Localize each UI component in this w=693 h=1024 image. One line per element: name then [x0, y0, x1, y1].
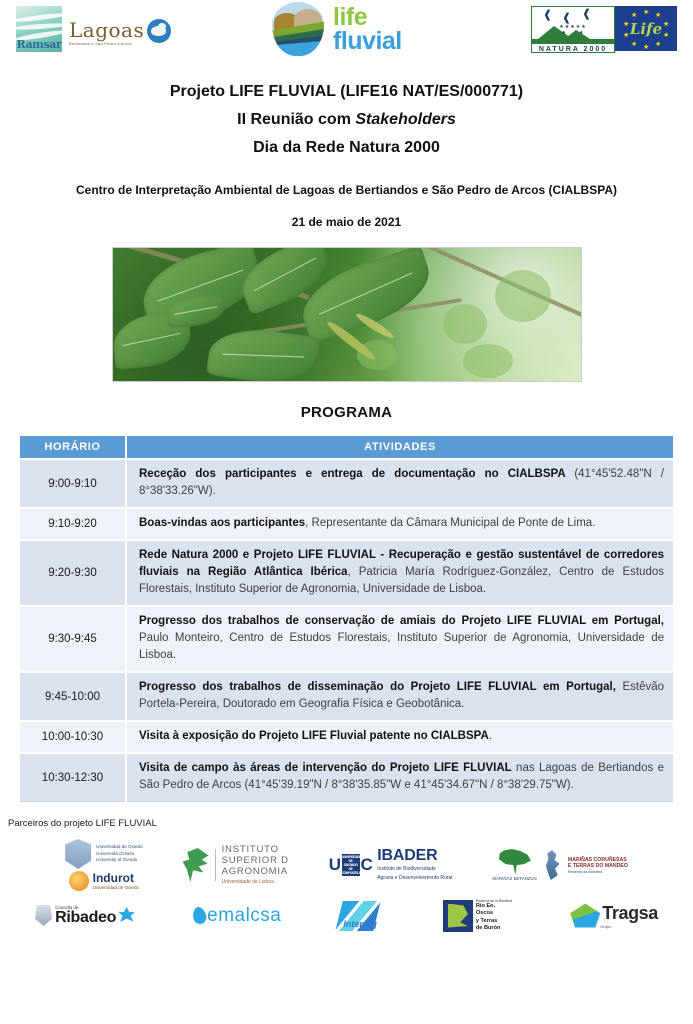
ibader-subtitle-2: Agraria e Desenvolvemento Rural: [377, 875, 452, 883]
row-activity: Receção dos participantes e entrega de d…: [126, 459, 673, 508]
row-activity-bold: Progresso dos trabalhos de disseminação …: [139, 681, 616, 693]
isa-line-4: Universidade de Lisboa: [222, 880, 289, 886]
eu-star-9: ★: [643, 44, 649, 51]
column-header-horario: HORÁRIO: [20, 436, 126, 459]
usc-letter-c: C: [361, 855, 373, 875]
reserva-emblem-icon: [443, 900, 473, 932]
eu-star-10: ★: [655, 41, 661, 48]
hero-photo-alder-leaves: [112, 247, 582, 382]
row-time: 9:00-9:10: [20, 459, 126, 508]
indurot-wordmark: Indurot: [93, 872, 139, 884]
column-header-atividades: ATIVIDADES: [126, 436, 673, 459]
row-activity-bold: Visita de campo às áreas de intervenção …: [139, 762, 512, 774]
ibader-wordmark: IBADER: [377, 848, 452, 864]
oviedo-name-es: Universidad de Oviedo: [96, 844, 142, 851]
table-row: 9:20-9:30 Rede Natura 2000 e Projeto LIF…: [20, 540, 673, 606]
oviedo-name-ast: Universidá d'Uviéu: [96, 851, 142, 858]
header-logo-bar: Ramsar Lagoas Bertiandos e Sao Pedro d'A…: [0, 0, 693, 58]
programa-heading: PROGRAMA: [0, 404, 693, 421]
photo-leaf-5: [205, 323, 319, 382]
emalcsa-water-drop-icon: [191, 906, 207, 925]
row-activity-bold: Visita à exposição do Projeto LIFE Fluvi…: [139, 730, 489, 742]
row-activity: Boas-vindas aos participantes, Represent…: [126, 508, 673, 540]
title-line-1: Projeto LIFE FLUVIAL (LIFE16 NAT/ES/0007…: [0, 78, 693, 106]
tragsa-wordmark: Tragsa: [602, 903, 658, 924]
reserva-line-1: Río Eo,: [476, 903, 512, 910]
usc-seal-icon: UNIVERSIDADE DE SANTIAGO DE COMPOSTELA: [342, 854, 360, 876]
usc-seal-text: UNIVERSIDADE DE SANTIAGO DE COMPOSTELA: [342, 855, 360, 875]
partner-logo-row-2: Concello de Ribadeo emalcsa Interreg Res…: [0, 899, 693, 932]
reserva-line-4: de Burón: [476, 925, 512, 932]
table-row: 9:10-9:20 Boas-vindas aos participantes,…: [20, 508, 673, 540]
oviedo-crest-icon: [65, 839, 91, 869]
row-activity: Rede Natura 2000 e Projeto LIFE FLUVIAL …: [126, 540, 673, 606]
row-activity: Visita de campo às áreas de intervenção …: [126, 753, 673, 802]
hero-image-wrap: [0, 247, 693, 382]
table-row: 10:00-10:30 Visita à exposição do Projet…: [20, 721, 673, 753]
natura-2000-logo: ❰ ❰ ❰ ★★★★★★ ★ NATURA 2000: [531, 6, 615, 53]
row-activity-rest: Paulo Monteiro, Centro de Estudos Flores…: [139, 632, 664, 661]
ramsar-lagoas-logo-group: Ramsar Lagoas Bertiandos e Sao Pedro d'A…: [16, 6, 171, 52]
ramsar-wave-1: [16, 12, 62, 24]
eu-life-wordmark: Life: [615, 20, 677, 38]
title-line-2: II Reunião com Stakeholders: [0, 106, 693, 134]
ribadeo-swirl-icon: [118, 907, 135, 924]
interreg-wordmark: Interreg: [343, 919, 377, 929]
natura-stars-icon: ★★★★★★ ★: [550, 24, 596, 42]
eu-star-1: ★: [643, 9, 649, 16]
ibader-subtitle-1: Instituto de Biodiversidade: [377, 866, 452, 874]
emalcsa-logo: emalcsa: [193, 905, 281, 927]
date-line: 21 de maio de 2021: [0, 215, 693, 229]
program-table: HORÁRIO ATIVIDADES 9:00-9:10 Receção dos…: [20, 436, 673, 802]
title-line-2-italic: Stakeholders: [355, 111, 455, 128]
lagoas-logo: Lagoas Bertiandos e Sao Pedro d'Arcos: [69, 19, 171, 52]
program-table-body: 9:00-9:10 Receção dos participantes e en…: [20, 459, 673, 802]
isa-line-2: SUPERIOR D: [222, 856, 289, 867]
row-activity: Progresso dos trabalhos de disseminação …: [126, 672, 673, 721]
table-row: 9:00-9:10 Receção dos participantes e en…: [20, 459, 673, 508]
row-activity: Progresso dos trabalhos de conservação d…: [126, 606, 673, 672]
indurot-subtitle: Universidad de Oviedo: [93, 885, 139, 890]
isa-eagle-icon: [183, 848, 209, 882]
marinas-right-line-3: Reserva da Biosfera: [568, 870, 628, 874]
eu-star-3: ★: [655, 12, 661, 19]
table-header-row: HORÁRIO ATIVIDADES: [20, 436, 673, 459]
table-row: 9:30-9:45 Progresso dos trabalhos de con…: [20, 606, 673, 672]
row-time: 9:30-9:45: [20, 606, 126, 672]
row-activity-bold: Receção dos participantes e entrega de d…: [139, 468, 574, 480]
eu-star-8: ★: [631, 41, 637, 48]
ribadeo-shield-icon: [35, 905, 52, 926]
partners-label: Parceiros do projeto LIFE FLUVIAL: [8, 818, 693, 829]
natura-label: NATURA 2000: [532, 46, 614, 53]
natura-eu-logo-group: ❰ ❰ ❰ ★★★★★★ ★ NATURA 2000 ★ ★ ★ ★ ★ ★ ★…: [531, 6, 677, 53]
row-time: 9:20-9:30: [20, 540, 126, 606]
isa-line-3: AGRONOMIA: [222, 867, 289, 878]
marinas-right-line-1: MARIÑAS CORUÑESAS: [568, 857, 628, 863]
ramsar-wordmark: Ramsar: [16, 38, 62, 51]
life-fluvial-mark-icon: [272, 2, 324, 56]
tragsa-mark-icon: [570, 904, 600, 928]
life-fluvial-logo: life fluvial: [272, 2, 402, 56]
emalcsa-wordmark: emalcsa: [207, 905, 281, 927]
lagoas-wordmark: Lagoas: [69, 20, 144, 40]
eu-star-2: ★: [631, 12, 637, 19]
natura-bird-icon-1: ❰: [543, 10, 552, 21]
title-line-3: Dia da Rede Natura 2000: [0, 134, 693, 162]
usc-ibader-logo: U UNIVERSIDADE DE SANTIAGO DE COMPOSTELA…: [329, 848, 453, 883]
partner-logo-row-1: Universidad de Oviedo Universidá d'Uviéu…: [0, 839, 693, 891]
marinas-caption: MARIÑAS BETANZOS: [492, 876, 537, 881]
table-row: 10:30-12:30 Visita de campo às áreas de …: [20, 753, 673, 802]
fluvial-wordmark: fluvial: [333, 29, 402, 53]
instituto-superior-de-agronomia-logo: INSTITUTO SUPERIOR D AGRONOMIA Universid…: [183, 845, 289, 886]
row-time: 9:45-10:00: [20, 672, 126, 721]
universidad-de-oviedo-indurot-logo: Universidad de Oviedo Universidá d'Uviéu…: [65, 839, 142, 891]
photo-foliage-3: [463, 344, 513, 378]
usc-letter-u: U: [329, 855, 341, 875]
row-activity-bold: Boas-vindas aos participantes: [139, 517, 305, 529]
isa-divider: [215, 849, 216, 881]
marinas-plant-icon: [542, 850, 564, 880]
program-table-head: HORÁRIO ATIVIDADES: [20, 436, 673, 459]
tragsa-grupo-label: Grupo: [600, 924, 658, 929]
interreg-logo: Interreg: [339, 901, 411, 931]
natura-bird-icon-2: ❰: [562, 13, 571, 24]
ramsar-wave-2: [16, 22, 62, 31]
concello-de-ribadeo-logo: Concello de Ribadeo: [35, 905, 135, 926]
reserva-rio-eo-oscos-terras-de-buron-logo: Reserva de la Biosfera Río Eo, Oscos y T…: [443, 899, 512, 932]
program-table-wrap: HORÁRIO ATIVIDADES 9:00-9:10 Receção dos…: [20, 436, 673, 802]
oviedo-name-en: University of Oviedo: [96, 857, 142, 864]
title-line-2-prefix: II Reunião com: [237, 111, 355, 128]
row-activity-rest: , Representante da Câmara Municipal de P…: [305, 517, 595, 529]
natura-bird-icon-3: ❰: [582, 9, 591, 20]
reserva-line-2: Oscos: [476, 910, 512, 917]
eu-life-logo: ★ ★ ★ ★ ★ ★ ★ ★ ★ ★ Life: [615, 6, 677, 51]
lagoas-frog-icon: [147, 19, 171, 43]
photo-foliage-2: [495, 270, 551, 322]
tragsa-logo: Tragsa Grupo: [570, 903, 658, 929]
table-row: 9:45-10:00 Progresso dos trabalhos de di…: [20, 672, 673, 721]
row-time: 10:30-12:30: [20, 753, 126, 802]
marinas-tree-icon: [498, 849, 532, 875]
marinas-betanzos-logo: MARIÑAS BETANZOS MARIÑAS CORUÑESAS E TER…: [492, 849, 628, 881]
venue-line: Centro de Interpretação Ambiental de Lag…: [0, 179, 693, 201]
document-title-block: Projeto LIFE FLUVIAL (LIFE16 NAT/ES/0007…: [0, 78, 693, 229]
lagoas-subtitle: Bertiandos e Sao Pedro d'Arcos: [69, 42, 144, 46]
ramsar-logo: Ramsar: [16, 6, 62, 52]
row-time: 10:00-10:30: [20, 721, 126, 753]
marinas-right-line-2: E TERRAS DO MANDEO: [568, 863, 628, 869]
photo-foliage-1: [443, 304, 487, 344]
life-wordmark: life: [333, 5, 402, 29]
indurot-sun-icon: [69, 871, 89, 891]
reserva-line-3: y Terras: [476, 918, 512, 925]
row-activity-bold: Progresso dos trabalhos de conservação d…: [139, 615, 664, 627]
row-time: 9:10-9:20: [20, 508, 126, 540]
row-activity-rest: .: [489, 730, 492, 742]
row-activity: Visita à exposição do Projeto LIFE Fluvi…: [126, 721, 673, 753]
ribadeo-wordmark: Ribadeo: [55, 910, 116, 926]
